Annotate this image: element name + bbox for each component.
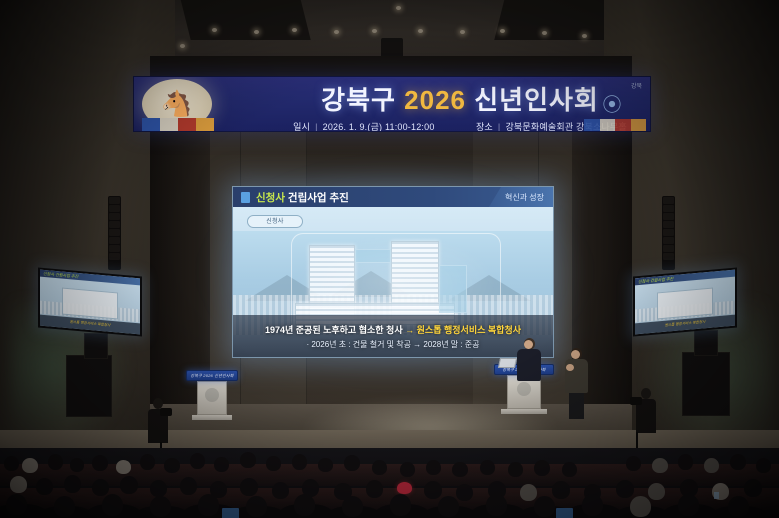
audience-head xyxy=(520,484,537,501)
slide-header: 신청사 건립사업 추진 혁신과 성장 xyxy=(233,187,553,207)
audience-head xyxy=(344,455,360,471)
speaker-subwoofer-left xyxy=(84,333,108,359)
audience-head xyxy=(366,480,383,498)
audience-head xyxy=(190,453,205,469)
audience-head xyxy=(648,483,665,500)
ceiling-light xyxy=(542,31,547,35)
speaker-stack-left xyxy=(66,355,112,417)
podium-body xyxy=(197,381,227,415)
event-banner: 🐴 강북구 2026 신년인사회 일시|2026. 1. 9.(금) 11:00… xyxy=(133,76,651,132)
left-side-monitor: 신청사 건립사업 추진 원스톱 행정서비스 복합청사 xyxy=(38,267,142,336)
audience-head xyxy=(424,481,442,499)
ceiling-light xyxy=(582,34,587,38)
audience-head xyxy=(626,456,641,471)
audience-head xyxy=(756,458,771,473)
ceiling-light xyxy=(334,30,339,34)
audience-head xyxy=(318,458,333,472)
banner-event-name: 신년인사회 xyxy=(474,85,599,115)
audience-head xyxy=(372,460,387,475)
audience-head xyxy=(36,478,53,495)
audience-head xyxy=(92,455,108,471)
audience-head xyxy=(180,477,197,495)
audience-head xyxy=(246,496,267,517)
photographer-left xyxy=(146,398,170,443)
podium-emblem-icon xyxy=(205,388,219,402)
ceiling-light xyxy=(212,28,217,32)
interpreter-legs xyxy=(569,393,584,419)
monitor-screen: 신청사 건립사업 추진 원스톱 행정서비스 복합청사 xyxy=(635,270,735,335)
audience-head xyxy=(400,462,415,477)
interpreter-hands xyxy=(566,364,574,371)
speaker-torso xyxy=(517,349,541,381)
audience-device-screen xyxy=(556,508,573,518)
slide-footer: 1974년 준공된 노후하고 협소한 청사 → 원스톱 행정서비스 복합청사 ·… xyxy=(233,315,553,357)
audience-head xyxy=(102,494,123,516)
audience-head xyxy=(728,496,749,517)
photographer-right xyxy=(634,388,658,433)
audience-head xyxy=(678,494,699,516)
footer-arrow: → xyxy=(405,325,414,335)
banner-stripes-left xyxy=(142,118,214,131)
speaker-stack-right xyxy=(682,352,730,416)
ceiling-light xyxy=(500,29,505,33)
line-array-speaker-left xyxy=(108,196,121,270)
interpreter-face xyxy=(571,350,580,359)
auditorium-scene: 🐴 강북구 2026 신년인사회 일시|2026. 1. 9.(금) 11:00… xyxy=(0,0,779,518)
audience-head xyxy=(240,478,258,496)
datetime-label: 일시 xyxy=(293,122,310,132)
audience-head xyxy=(294,494,315,516)
audience-head xyxy=(534,460,550,476)
slide-title: 신청사 건립사업 추진 xyxy=(256,190,349,205)
monitor-head-text: 신청사 건립사업 추진 xyxy=(43,271,78,278)
audience-head xyxy=(582,494,603,516)
audience-head xyxy=(150,480,167,497)
monitor-building xyxy=(657,287,713,319)
audience-head xyxy=(438,496,459,517)
audience-head xyxy=(10,476,27,493)
audience-head xyxy=(730,454,746,470)
photographer-head xyxy=(641,388,651,399)
audience-area xyxy=(0,448,779,518)
banner-year: 2026 xyxy=(404,85,466,115)
audience-head xyxy=(22,458,38,473)
ceiling-light xyxy=(396,6,401,10)
separator: | xyxy=(315,122,318,132)
audience-head xyxy=(704,458,719,473)
audience-head xyxy=(164,458,180,473)
right-side-monitor: 신청사 건립사업 추진 원스톱 행정서비스 복합청사 xyxy=(633,267,737,336)
podium-emblem-icon xyxy=(517,382,531,396)
audience-head xyxy=(116,460,131,474)
speaker-person xyxy=(516,338,542,381)
speaker-face xyxy=(524,340,533,349)
slide-number-badge xyxy=(241,192,250,203)
monitor-building xyxy=(62,287,118,319)
footer-before: 1974년 준공된 노후하고 협소한 청사 xyxy=(265,325,403,335)
podium-sign-text: 강북구 2026 신년인사회 xyxy=(190,373,233,379)
audience-head xyxy=(390,494,411,516)
podium-sign-left: 강북구 2026 신년인사회 xyxy=(186,370,238,381)
audience-device-screen xyxy=(222,508,239,518)
audience-phone-screen xyxy=(714,492,719,499)
audience-head xyxy=(452,462,468,477)
audience-head xyxy=(240,452,256,468)
audience-head xyxy=(456,484,473,501)
podium-base xyxy=(501,409,547,414)
podium-base xyxy=(192,415,232,420)
ceiling-light xyxy=(254,30,259,34)
banner-district: 강북구 xyxy=(321,85,396,115)
ceiling-light xyxy=(418,29,423,33)
audience-head xyxy=(678,454,693,470)
sign-language-interpreter xyxy=(563,348,589,419)
slide-title-rest: 건립사업 추진 xyxy=(288,192,349,204)
datetime-value: 2026. 1. 9.(금) 11:00-12:00 xyxy=(323,122,435,132)
slide-body: 신청사 197 xyxy=(233,207,553,357)
audience-head xyxy=(4,456,19,471)
audience-head xyxy=(266,456,281,471)
audience-head xyxy=(652,458,668,473)
audience-head xyxy=(70,458,84,472)
camera-icon xyxy=(160,408,172,416)
camera-icon xyxy=(630,397,642,405)
podium-left[interactable]: 강북구 2026 신년인사회 xyxy=(186,370,238,420)
place-label: 장소 xyxy=(476,122,493,132)
banner-stripes-right xyxy=(584,119,646,131)
audience-head xyxy=(198,494,219,516)
footer-after: 원스톱 행정서비스 복합청사 xyxy=(417,325,521,335)
audience-head xyxy=(292,454,307,470)
audience-head xyxy=(616,480,634,498)
laptop-on-podium xyxy=(498,358,517,368)
banner-logo-text: 강북 xyxy=(631,81,642,90)
line-array-speaker-right xyxy=(662,196,675,270)
swirl-cloud-logo-icon: ⦿ xyxy=(584,90,640,122)
slide-corner-tag: 혁신과 성장 xyxy=(489,187,553,207)
audience-head xyxy=(54,496,75,517)
ceiling-light xyxy=(372,29,377,33)
slide-chip-label: 신청사 xyxy=(247,215,303,228)
slide-footer-line2: · 2026년 초 : 건물 철거 및 착공 → 2028년 말 : 준공 xyxy=(306,339,479,350)
audience-head xyxy=(150,496,171,517)
monitor-foot-text: 원스톱 행정서비스 복합청사 xyxy=(665,320,706,329)
audience-head xyxy=(92,479,109,496)
ceiling-light xyxy=(292,28,297,32)
slide-title-highlight: 신청사 xyxy=(256,192,285,204)
separator: | xyxy=(498,122,501,132)
audience-head xyxy=(272,482,289,499)
audience-head xyxy=(562,462,577,477)
audience-head xyxy=(486,494,507,516)
audience-head xyxy=(6,494,27,515)
speaker-subwoofer-right xyxy=(694,330,718,356)
audience-head xyxy=(48,454,63,470)
audience-head xyxy=(214,457,229,472)
ceiling-light xyxy=(180,44,185,48)
audience-red-hat xyxy=(397,482,412,494)
monitor-head-text: 신청사 건립사업 추진 xyxy=(638,277,673,284)
audience-head xyxy=(552,481,570,499)
audience-head xyxy=(744,479,762,497)
audience-head xyxy=(508,462,523,477)
audience-head xyxy=(140,454,155,470)
audience-head xyxy=(480,460,495,475)
ceiling-light xyxy=(460,30,465,34)
audience-head xyxy=(534,496,555,517)
running-horse-icon: 🐴 xyxy=(158,91,196,117)
projection-screen: 신청사 건립사업 추진 혁신과 성장 신청사 xyxy=(232,186,554,358)
monitor-screen: 신청사 건립사업 추진 원스톱 행정서비스 복합청사 xyxy=(40,270,140,335)
audience-head xyxy=(342,496,363,517)
slide-footer-line1: 1974년 준공된 노후하고 협소한 청사 → 원스톱 행정서비스 복합청사 xyxy=(265,323,521,336)
monitor-foot-text: 원스톱 행정서비스 복합청사 xyxy=(70,320,111,329)
audience-head xyxy=(120,476,138,494)
audience-head xyxy=(630,496,651,517)
audience-head xyxy=(426,460,441,475)
ceiling-acoustic-panel-left xyxy=(179,0,310,40)
audience-head xyxy=(64,475,81,493)
